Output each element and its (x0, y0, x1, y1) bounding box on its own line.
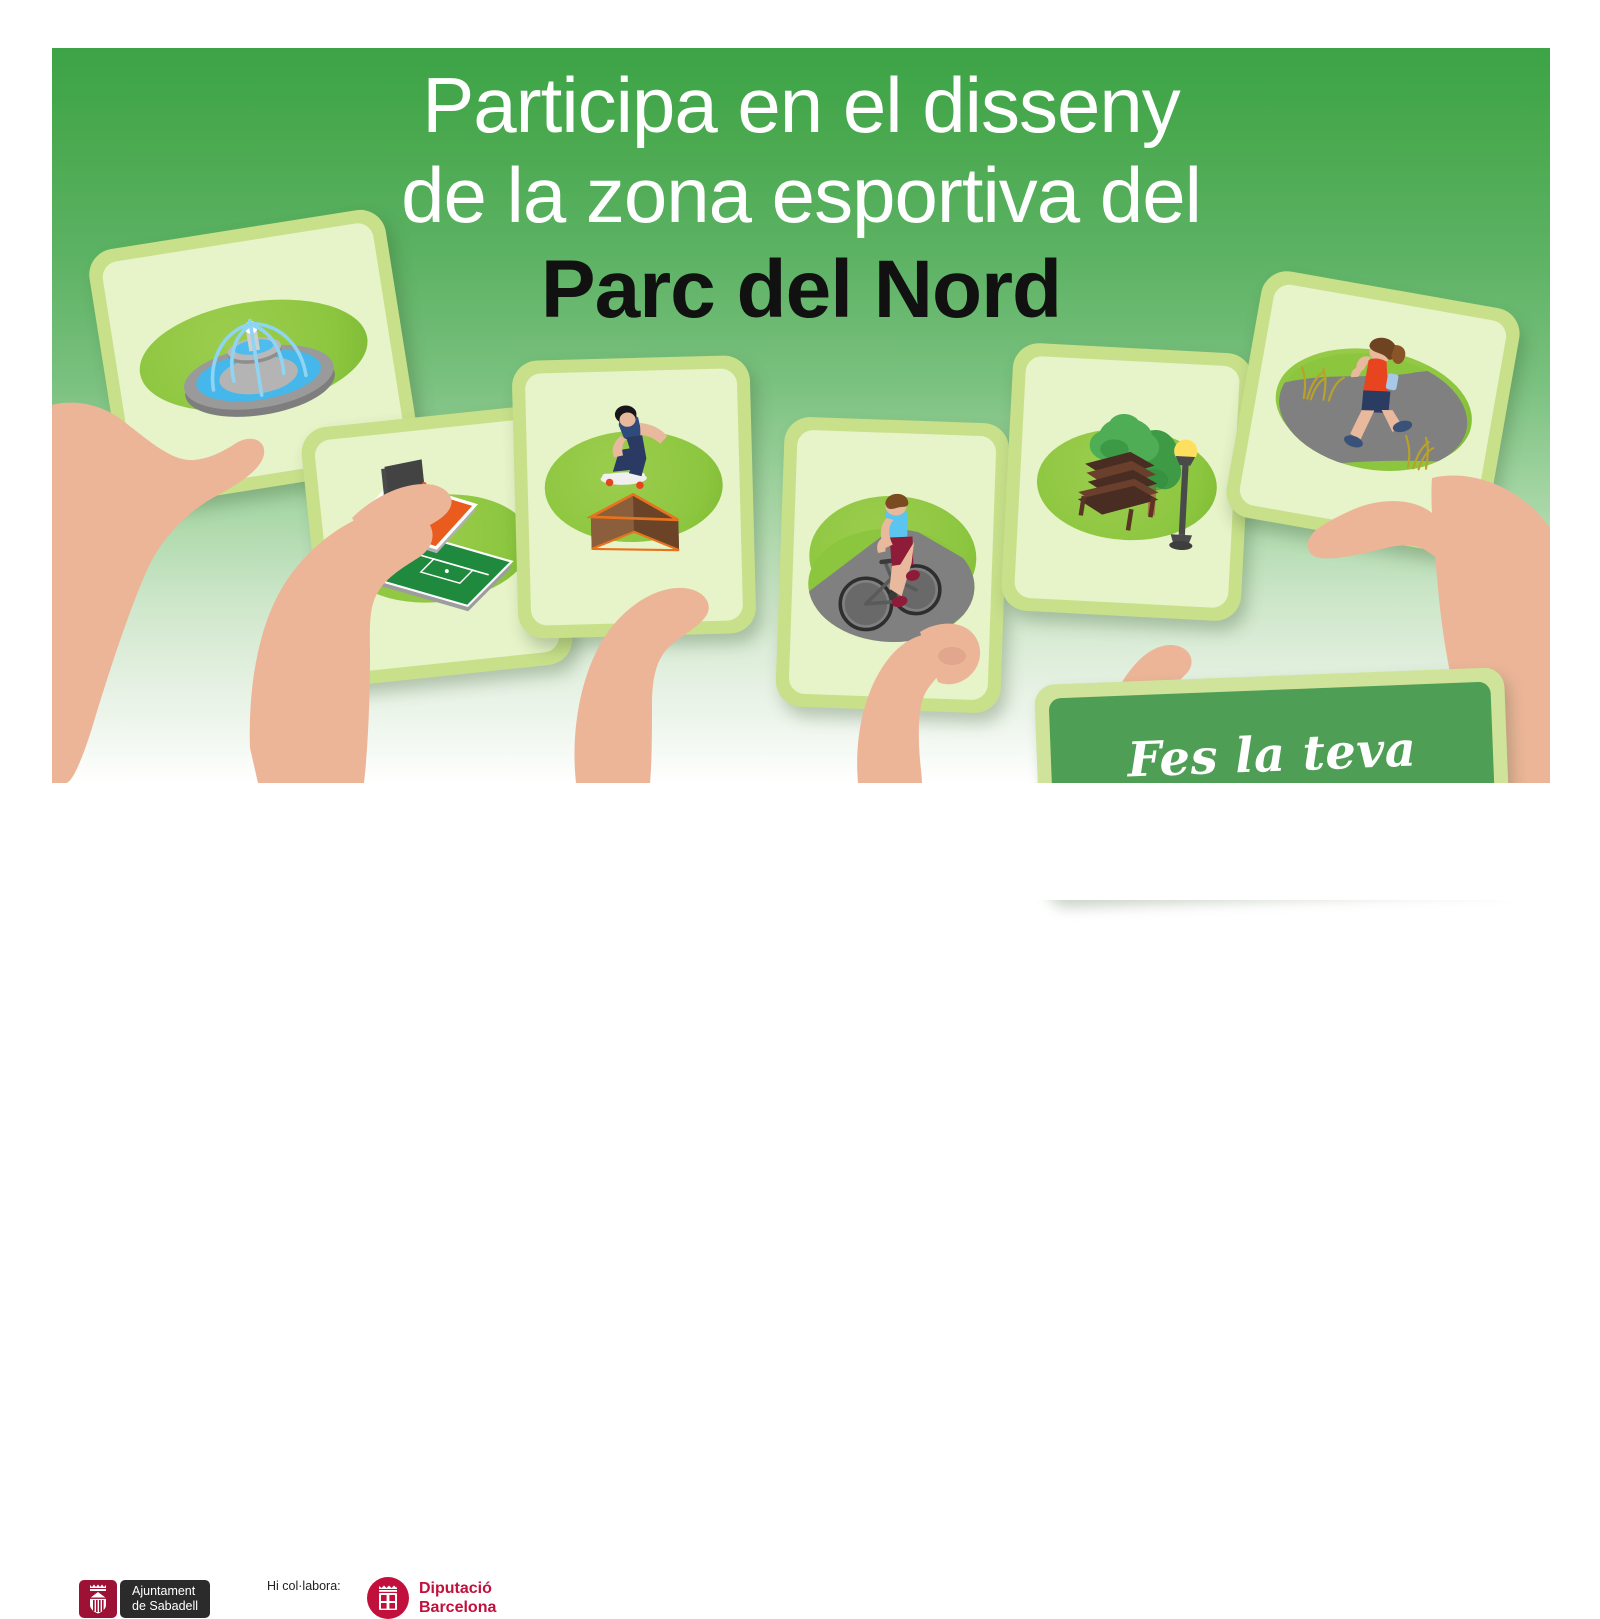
footer-bar: Ajuntament de Sabadell Hi col·labora: (0, 783, 1600, 900)
card-bench[interactable] (1000, 342, 1254, 622)
card-runner-face (1237, 282, 1508, 544)
card-bike-face (788, 430, 996, 701)
logo-ajuntament-sabadell[interactable]: Ajuntament de Sabadell (79, 1580, 210, 1618)
card-skate-face (525, 368, 744, 625)
sabadell-line-1: Ajuntament (132, 1584, 198, 1599)
card-bike[interactable] (775, 416, 1010, 714)
runner-icon (1237, 282, 1508, 544)
green-background-panel: Participa en el disseny de la zona espor… (52, 48, 1550, 783)
card-bench-face (1014, 356, 1240, 609)
card-skate[interactable] (511, 355, 756, 639)
card-runner[interactable] (1222, 267, 1523, 559)
sabadell-crest-icon (85, 1584, 111, 1614)
poster-canvas: Participa en el disseny de la zona espor… (0, 0, 1600, 900)
diputacio-shield-icon (375, 1584, 401, 1612)
title-line-1: Participa en el disseny (52, 60, 1550, 150)
diputacio-line-1: Diputació (419, 1579, 496, 1598)
park-bench-icon (1014, 356, 1240, 609)
logo-diputacio-barcelona[interactable]: Diputació Barcelona (367, 1577, 496, 1619)
bicycle-icon (788, 430, 996, 701)
sabadell-shield-icon (79, 1580, 117, 1618)
skateboard-icon (525, 368, 744, 625)
diputacio-name: Diputació Barcelona (419, 1579, 496, 1617)
sabadell-name-box: Ajuntament de Sabadell (120, 1580, 210, 1618)
diputacio-crest-icon (367, 1577, 409, 1619)
collaborate-label: Hi col·labora: (267, 1579, 341, 1593)
diputacio-line-2: Barcelona (419, 1598, 496, 1617)
cta-line-1: Fes la teva (1126, 720, 1417, 789)
sabadell-line-2: de Sabadell (132, 1599, 198, 1614)
